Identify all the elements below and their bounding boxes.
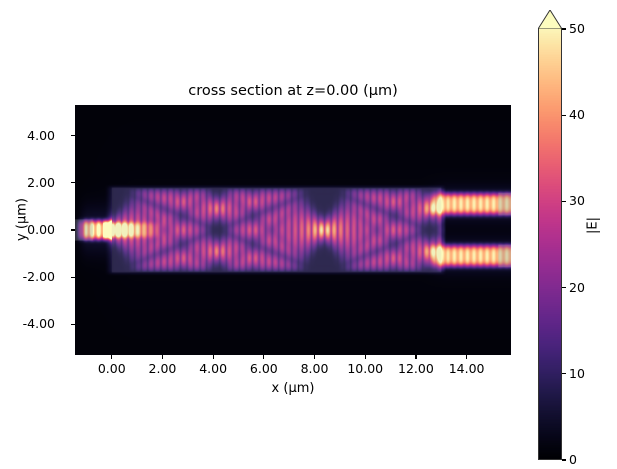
colorbar-tick-mark bbox=[562, 28, 566, 29]
y-axis-label: y (μm) bbox=[15, 190, 30, 250]
colorbar-tick-label: 10 bbox=[569, 368, 585, 381]
x-tick-label: 14.00 bbox=[427, 363, 507, 376]
colorbar-tick-mark bbox=[562, 373, 566, 374]
colorbar-gradient bbox=[538, 29, 562, 460]
x-tick-mark bbox=[111, 355, 112, 359]
colorbar bbox=[538, 10, 562, 460]
matplotlib-figure: cross section at z=0.00 (μm) 4.002.000.0… bbox=[0, 0, 617, 469]
page-title: cross section at z=0.00 (μm) bbox=[75, 83, 511, 99]
y-tick-label: 0.00 bbox=[0, 224, 65, 237]
y-tick-label: -2.00 bbox=[0, 271, 65, 284]
colorbar-tick-label: 20 bbox=[569, 282, 585, 295]
x-tick-mark bbox=[415, 355, 416, 359]
x-tick-mark bbox=[314, 355, 315, 359]
y-tick-mark bbox=[71, 182, 75, 183]
colorbar-tick-mark bbox=[562, 115, 566, 116]
x-tick-mark bbox=[213, 355, 214, 359]
colorbar-tick-label: 0 bbox=[569, 454, 577, 467]
field-heatmap-canvas bbox=[75, 105, 511, 355]
colorbar-tick-mark bbox=[562, 287, 566, 288]
y-tick-label: 4.00 bbox=[0, 130, 65, 143]
colorbar-tick-mark bbox=[562, 459, 566, 460]
x-tick-mark bbox=[263, 355, 264, 359]
colorbar-tick-label: 50 bbox=[569, 23, 585, 36]
x-tick-mark bbox=[466, 355, 467, 359]
colorbar-tick-label: 40 bbox=[569, 109, 585, 122]
x-tick-mark bbox=[365, 355, 366, 359]
colorbar-tick-label: 30 bbox=[569, 195, 585, 208]
colorbar-label: |E| bbox=[586, 201, 601, 251]
y-tick-mark bbox=[71, 229, 75, 230]
y-tick-label: 2.00 bbox=[0, 177, 65, 190]
y-tick-mark bbox=[71, 135, 75, 136]
colorbar-tick-mark bbox=[562, 201, 566, 202]
y-tick-label: -4.00 bbox=[0, 318, 65, 331]
y-tick-mark bbox=[71, 277, 75, 278]
y-tick-mark bbox=[71, 324, 75, 325]
colorbar-extend-arrow-icon bbox=[538, 10, 562, 29]
heatmap-axes bbox=[75, 105, 511, 355]
x-axis-label: x (μm) bbox=[75, 381, 511, 396]
x-tick-mark bbox=[162, 355, 163, 359]
